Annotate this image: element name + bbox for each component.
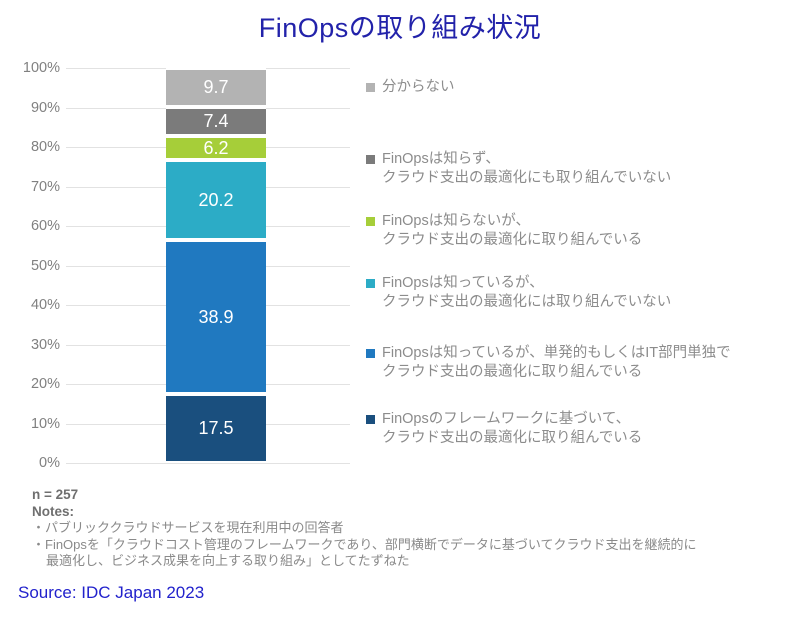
legend-swatch-icon: [366, 279, 375, 288]
legend-item-label: FinOpsは知っているが、単発的もしくはIT部門単独で クラウド支出の最適化に…: [382, 344, 731, 382]
legend-item[interactable]: FinOpsは知っているが、単発的もしくはIT部門単独で クラウド支出の最適化に…: [366, 344, 731, 382]
legend-item[interactable]: 分からない: [366, 78, 455, 97]
y-axis-tick-label: 50%: [8, 258, 60, 274]
y-axis-tick-label: 0%: [8, 455, 60, 471]
legend-swatch-icon: [366, 349, 375, 358]
y-axis-tick-label: 70%: [8, 179, 60, 195]
bar-segment[interactable]: 38.9: [166, 240, 266, 394]
sample-size: n = 257: [32, 486, 772, 503]
y-axis-tick-label: 10%: [8, 416, 60, 432]
note-line: ・パブリッククラウドサービスを現在利用中の回答者: [32, 520, 772, 537]
chart-container: FinOpsの取り組み状況 100%90%80%70%60%50%40%30%2…: [0, 0, 800, 618]
legend-item-label: FinOpsのフレームワークに基づいて、 クラウド支出の最適化に取り組んでいる: [382, 410, 642, 448]
y-axis-tick-label: 80%: [8, 139, 60, 155]
notes-label: Notes:: [32, 503, 772, 520]
bar-segment[interactable]: 9.7: [166, 68, 266, 106]
y-axis-tick-label: 20%: [8, 376, 60, 392]
legend-item-label: FinOpsは知らず、 クラウド支出の最適化にも取り組んでいない: [382, 150, 671, 188]
legend-swatch-icon: [366, 155, 375, 164]
note-line: ・FinOpsを「クラウドコスト管理のフレームワークであり、部門横断でデータに基…: [32, 537, 772, 554]
legend-item[interactable]: FinOpsのフレームワークに基づいて、 クラウド支出の最適化に取り組んでいる: [366, 410, 642, 448]
y-axis-tick-label: 100%: [8, 60, 60, 76]
legend-item[interactable]: FinOpsは知っているが、 クラウド支出の最適化には取り組んでいない: [366, 274, 671, 312]
source-label: Source: IDC Japan 2023: [18, 583, 204, 603]
legend-swatch-icon: [366, 415, 375, 424]
gridline: [66, 463, 350, 464]
legend-item-label: 分からない: [382, 78, 455, 97]
legend-item-label: FinOpsは知らないが、 クラウド支出の最適化に取り組んでいる: [382, 212, 642, 250]
note-line: 最適化し、ビジネス成果を向上する取り組み」としてたずねた: [32, 553, 772, 570]
bar-segment[interactable]: 6.2: [166, 136, 266, 160]
legend-swatch-icon: [366, 83, 375, 92]
y-axis-tick-label: 40%: [8, 297, 60, 313]
legend-item-label: FinOpsは知っているが、 クラウド支出の最適化には取り組んでいない: [382, 274, 671, 312]
legend-item[interactable]: FinOpsは知らず、 クラウド支出の最適化にも取り組んでいない: [366, 150, 671, 188]
bar-segment[interactable]: 20.2: [166, 160, 266, 240]
legend-swatch-icon: [366, 217, 375, 226]
plot-area: 17.538.920.26.27.49.7: [66, 68, 350, 463]
page-title: FinOpsの取り組み状況: [0, 6, 800, 45]
legend-item[interactable]: FinOpsは知らないが、 クラウド支出の最適化に取り組んでいる: [366, 212, 642, 250]
bar-segment[interactable]: 17.5: [166, 394, 266, 463]
y-axis-tick-label: 30%: [8, 337, 60, 353]
y-axis-tick-label: 90%: [8, 100, 60, 116]
footnotes: n = 257 Notes: ・パブリッククラウドサービスを現在利用中の回答者 …: [32, 486, 772, 570]
bar-segment[interactable]: 7.4: [166, 107, 266, 136]
stacked-bar[interactable]: 17.538.920.26.27.49.7: [166, 68, 266, 463]
y-axis-tick-label: 60%: [8, 218, 60, 234]
